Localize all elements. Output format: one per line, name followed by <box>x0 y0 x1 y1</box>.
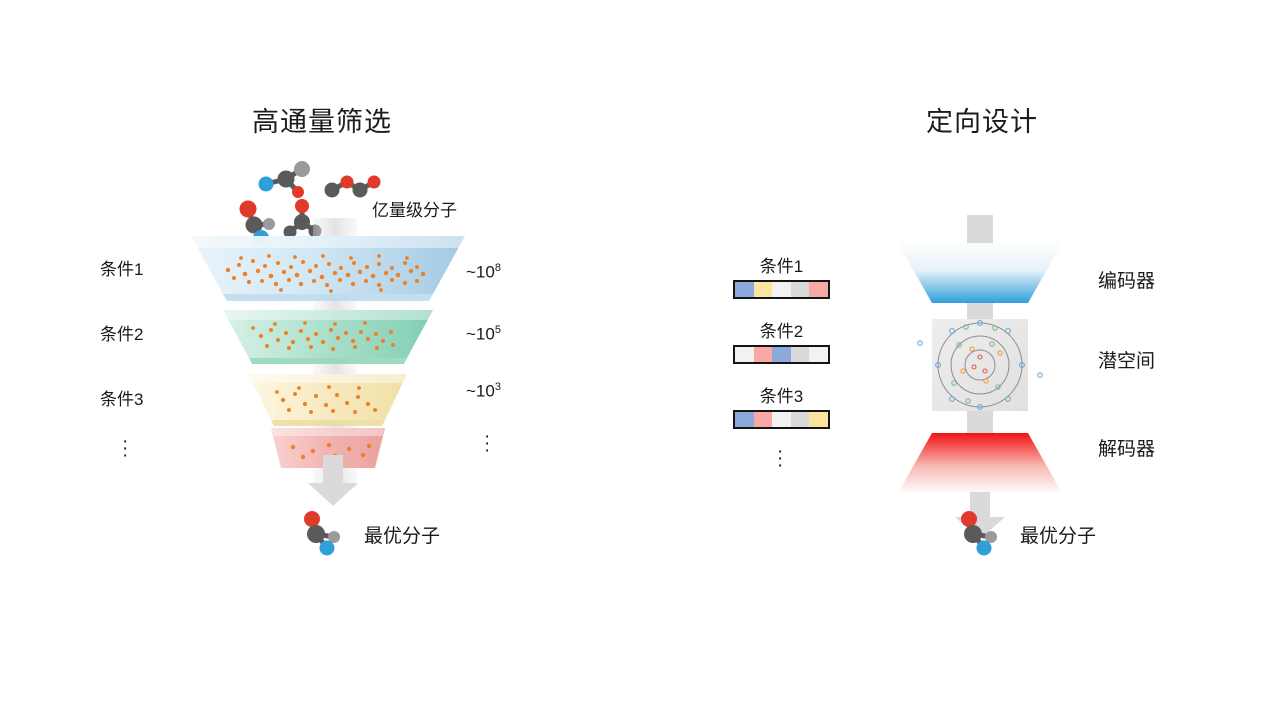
segment <box>772 347 791 362</box>
decoder-label: 解码器 <box>1098 434 1155 461</box>
segment <box>809 347 828 362</box>
molecules-count-label: 亿量级分子 <box>372 196 457 221</box>
right-condition-1-bar <box>733 280 830 299</box>
left-count-3-prefix: ~10 <box>466 382 495 401</box>
left-output-arrow <box>302 455 364 507</box>
segment <box>735 282 754 297</box>
right-condition-2: 条件2 <box>733 317 830 364</box>
funnel-layer-1 <box>191 236 465 301</box>
latent-space-label: 潜空间 <box>1098 346 1155 373</box>
segment <box>791 347 810 362</box>
left-condition-2-label: 条件2 <box>100 320 143 345</box>
latent-box <box>932 319 1028 411</box>
connector-top <box>967 215 993 243</box>
segment <box>735 347 754 362</box>
segment <box>809 412 828 427</box>
left-count-2-exponent: 5 <box>495 324 501 336</box>
left-condition-1-label: 条件1 <box>100 255 143 280</box>
right-condition-1-label: 条件1 <box>733 252 830 277</box>
right-condition-3-bar <box>733 410 830 429</box>
segment <box>791 282 810 297</box>
right-condition-1: 条件1 <box>733 252 830 299</box>
screening-funnel <box>183 228 473 468</box>
right-condition-3: 条件3 <box>733 382 830 429</box>
right-condition-2-bar <box>733 345 830 364</box>
left-count-1-prefix: ~10 <box>466 263 495 282</box>
right-condition-ellipsis: ··· <box>777 448 783 469</box>
right-panel-title: 定向设计 <box>926 100 1038 139</box>
right-output-molecule-icon <box>955 510 1011 558</box>
left-count-3: ~103 <box>466 381 501 402</box>
left-output-molecule-icon <box>298 510 354 558</box>
encoder-trapezoid <box>898 243 1062 303</box>
segment <box>754 412 773 427</box>
left-count-3-exponent: 3 <box>495 381 501 393</box>
left-panel-title: 高通量筛选 <box>252 100 392 139</box>
segment <box>754 347 773 362</box>
right-condition-3-label: 条件3 <box>733 382 830 407</box>
left-condition-ellipsis: ··· <box>122 438 128 459</box>
left-output-label: 最优分子 <box>364 521 440 548</box>
funnel-layer-2 <box>223 310 433 364</box>
segment <box>735 412 754 427</box>
right-condition-2-label: 条件2 <box>733 317 830 342</box>
segment <box>772 282 791 297</box>
decoder-trapezoid <box>898 433 1062 493</box>
vae-pipeline <box>880 215 1080 515</box>
connector-lat-dec <box>967 411 993 433</box>
segment <box>754 282 773 297</box>
left-count-1-exponent: 8 <box>495 262 501 274</box>
right-output-label: 最优分子 <box>1020 521 1096 548</box>
left-count-2-prefix: ~10 <box>466 325 495 344</box>
left-count-ellipsis: ··· <box>484 433 490 454</box>
encoder-label: 编码器 <box>1098 266 1155 293</box>
segment <box>772 412 791 427</box>
funnel-layer-3 <box>249 374 407 426</box>
left-count-1: ~108 <box>466 262 501 283</box>
left-condition-3-label: 条件3 <box>100 385 143 410</box>
segment <box>791 412 810 427</box>
segment <box>809 282 828 297</box>
left-count-2: ~105 <box>466 324 501 345</box>
